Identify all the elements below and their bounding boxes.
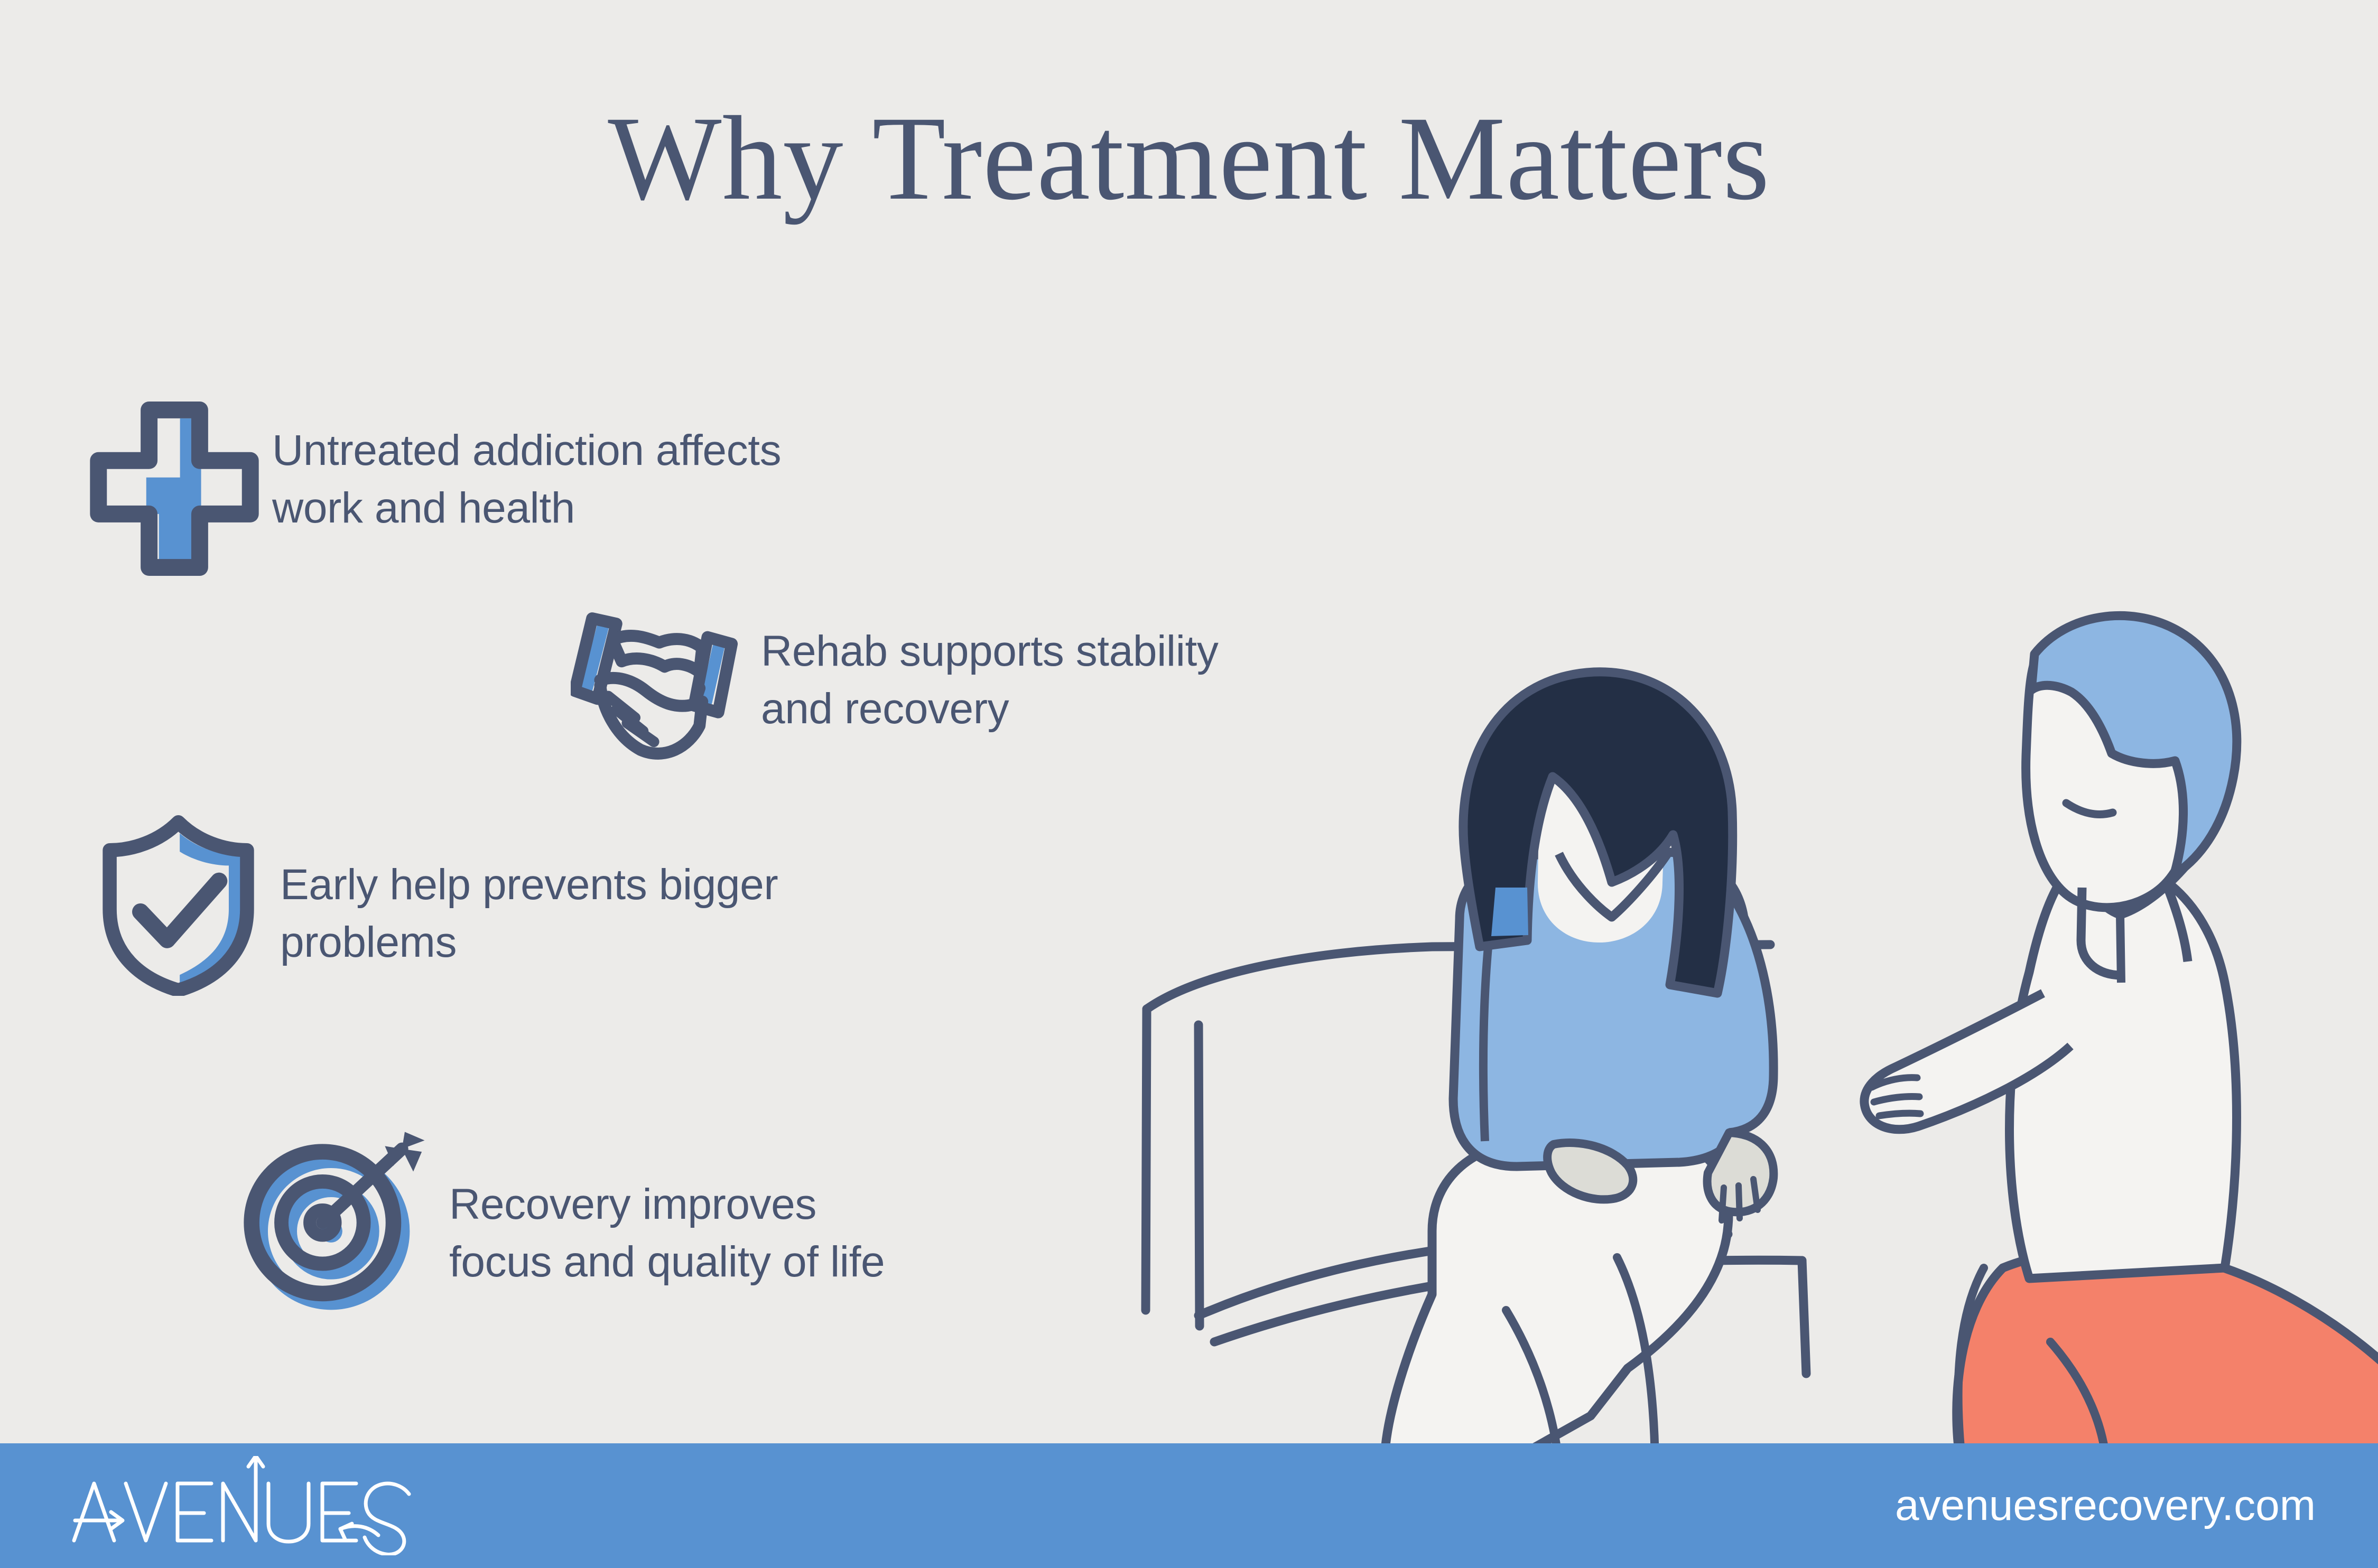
- website-url[interactable]: avenuesrecovery.com: [1895, 1443, 2316, 1568]
- avenues-logo[interactable]: [58, 1456, 476, 1555]
- counseling-scene-illustration: [1136, 518, 2378, 1463]
- page-title: Why Treatment Matters: [0, 98, 2378, 219]
- bullet-item-3: Early help prevents bigger problems: [90, 811, 778, 996]
- bullet-text-1: Untreated addiction affects work and hea…: [272, 422, 781, 537]
- bullet-text-4: Recovery improves focus and quality of l…: [449, 1175, 885, 1291]
- target-arrow-icon: [243, 1131, 436, 1326]
- bullet-item-2: Rehab supports stability and recovery: [571, 608, 1219, 766]
- bullet-text-3: Early help prevents bigger problems: [280, 856, 778, 971]
- footer-bar: avenuesrecovery.com: [0, 1443, 2378, 1568]
- bullet-item-1: Untreated addiction affects work and hea…: [90, 402, 781, 576]
- shield-check-icon: [90, 811, 267, 996]
- bullet-item-4: Recovery improves focus and quality of l…: [243, 1131, 885, 1326]
- infographic-canvas: Why Treatment Matters Untreated addictio…: [0, 0, 2378, 1568]
- medical-cross-icon: [90, 402, 259, 576]
- handshake-icon: [571, 608, 745, 766]
